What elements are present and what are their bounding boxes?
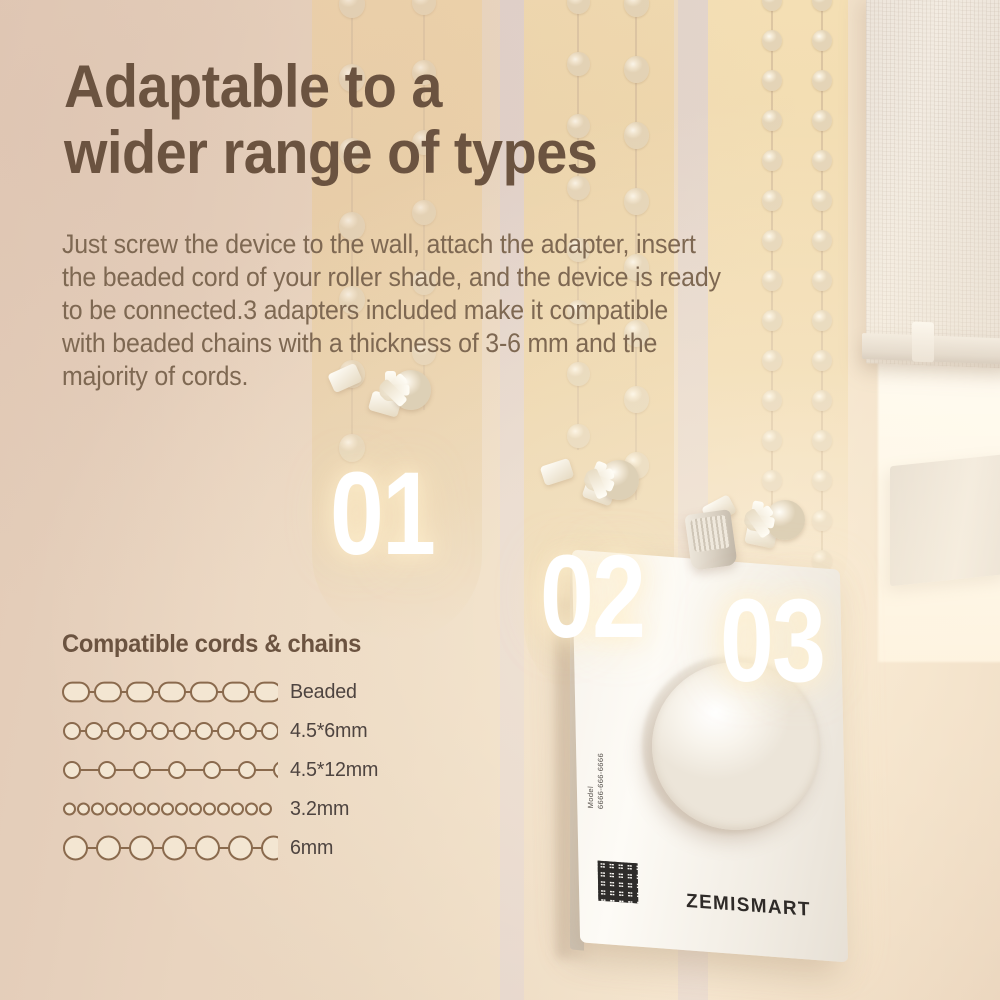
step-number-03: 03 <box>720 582 824 700</box>
body-line-4: with beaded chains with a thickness of 3… <box>62 327 889 360</box>
device-serial-number: Model 6666-666-6666 <box>586 752 605 809</box>
list-item-label: 6mm <box>290 836 333 860</box>
chain-round-4p5x12-icon <box>62 753 278 787</box>
list-item-label: 4.5*12mm <box>290 758 378 782</box>
list-item-label: 3.2mm <box>290 797 349 821</box>
list-item: 4.5*12mm <box>62 750 442 789</box>
list-item: 6mm <box>62 828 442 867</box>
headline-line-1: Adaptable to a <box>64 54 696 120</box>
chain-round-4p5x6-icon <box>62 714 278 748</box>
compatible-list: Beaded4.5*6mm4.5*12mm3.2mm6mm <box>62 672 442 867</box>
list-item: 4.5*6mm <box>62 711 442 750</box>
product-marketing-image: Model 6666-666-6666 ZEMISMART Adaptable … <box>0 0 1000 1000</box>
cord-inlet-port <box>684 509 737 571</box>
compatible-list-title: Compatible cords & chains <box>62 630 361 659</box>
body-line-3: to be connected.3 adapters included make… <box>62 294 889 327</box>
qr-code <box>598 861 639 904</box>
serial-model: Model <box>586 786 595 809</box>
list-item: Beaded <box>62 672 442 711</box>
step-number-01: 01 <box>330 455 434 573</box>
chain-oval-beaded-icon <box>62 675 278 709</box>
list-item: 3.2mm <box>62 789 442 828</box>
body-line-1: Just screw the device to the wall, attac… <box>62 228 889 261</box>
chain-round-6mm-icon <box>62 831 278 865</box>
chain-round-3p2-icon <box>62 792 278 826</box>
body-line-2: the beaded cord of your roller shade, an… <box>62 261 889 294</box>
adapter-sprocket-2 <box>540 440 650 520</box>
headline-line-2: wider range of types <box>64 120 696 186</box>
step-number-02: 02 <box>540 538 644 656</box>
body-line-5: majority of cords. <box>62 360 889 393</box>
description-text: Just screw the device to the wall, attac… <box>62 228 889 393</box>
serial-number: 6666-666-6666 <box>596 753 605 810</box>
list-item-label: Beaded <box>290 680 357 704</box>
page-title: Adaptable to a wider range of types <box>64 54 696 186</box>
list-item-label: 4.5*6mm <box>290 719 367 743</box>
